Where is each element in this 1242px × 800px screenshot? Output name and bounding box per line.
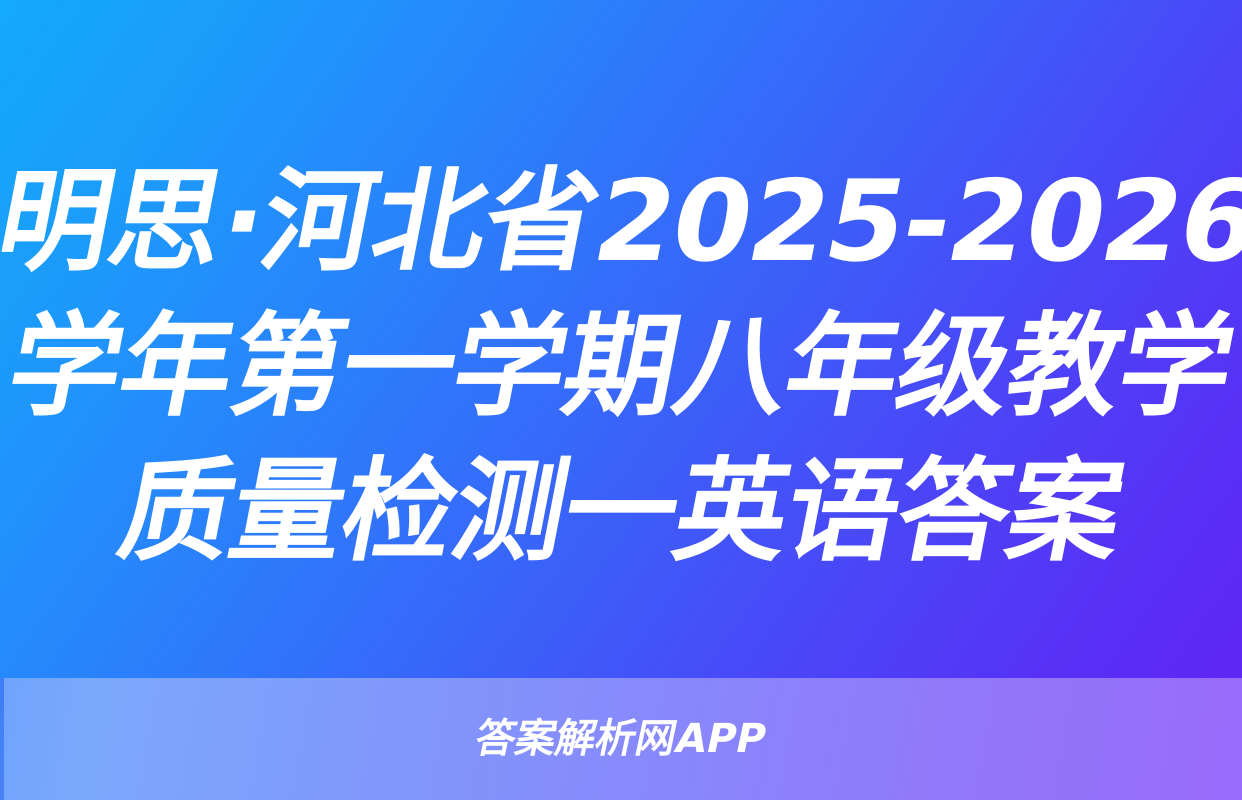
- poster-canvas: 明思·河北省2025-2026 学年第一学期八年级教学 质量检测一英语答案 答案…: [0, 0, 1242, 800]
- headline-block: 明思·河北省2025-2026 学年第一学期八年级教学 质量检测一英语答案: [0, 0, 1242, 678]
- watermark-app-label: 答案解析网APP: [472, 719, 770, 759]
- headline-line-3: 质量检测一英语答案: [0, 440, 1242, 585]
- headline-line-1: 明思·河北省2025-2026: [0, 150, 1242, 295]
- watermark-block: 答案解析网APP: [0, 678, 1242, 800]
- headline-line-2: 学年第一学期八年级教学: [0, 295, 1242, 440]
